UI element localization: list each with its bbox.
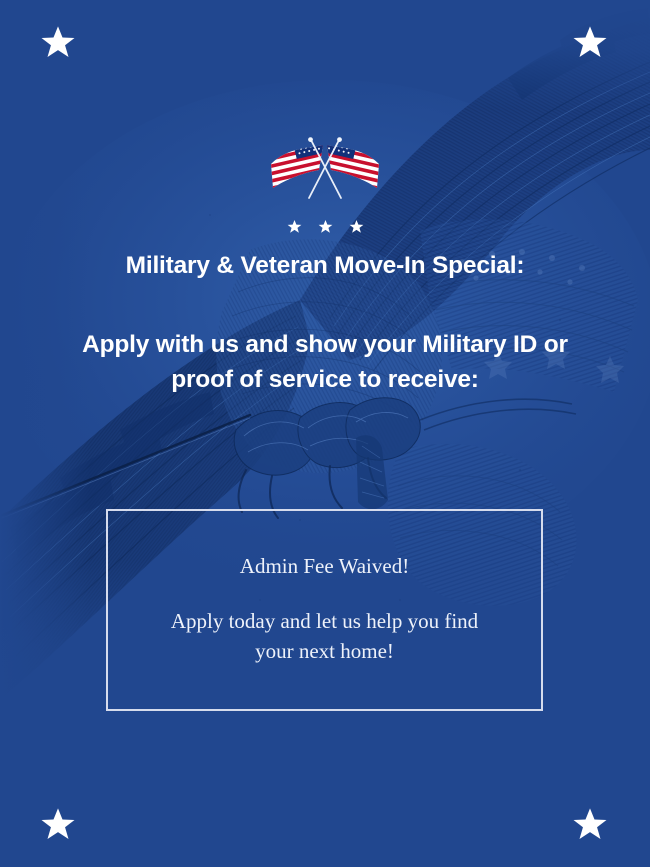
offer-body-line1: Apply today and let us help you find <box>171 609 478 633</box>
crossed-american-flags-icon <box>263 136 387 202</box>
star-icon <box>572 806 608 842</box>
star-icon <box>40 24 76 60</box>
promo-instructions-line1: Apply with us and show your Military ID … <box>82 331 568 358</box>
offer-body-line2: your next home! <box>255 639 394 663</box>
star-icon <box>40 806 76 842</box>
promo-instructions-line2: proof of service to receive: <box>171 366 479 393</box>
military-veteran-promo-poster: Military & Veteran Move-In Special: Appl… <box>0 0 650 867</box>
emblem-group <box>0 136 650 234</box>
star-icon <box>318 219 333 234</box>
star-icon <box>349 219 364 234</box>
promo-instructions: Apply with us and show your Military ID … <box>40 328 610 398</box>
poster-background <box>0 0 650 867</box>
offer-headline: Admin Fee Waived! <box>220 554 429 579</box>
offer-body: Apply today and let us help you find you… <box>145 607 504 667</box>
star-icon <box>287 219 302 234</box>
offer-box: Admin Fee Waived! Apply today and let us… <box>106 509 543 711</box>
emblem-star-row <box>287 219 364 234</box>
promo-title: Military & Veteran Move-In Special: <box>40 250 610 281</box>
star-icon <box>572 24 608 60</box>
headline-block: Military & Veteran Move-In Special: Appl… <box>40 250 610 398</box>
